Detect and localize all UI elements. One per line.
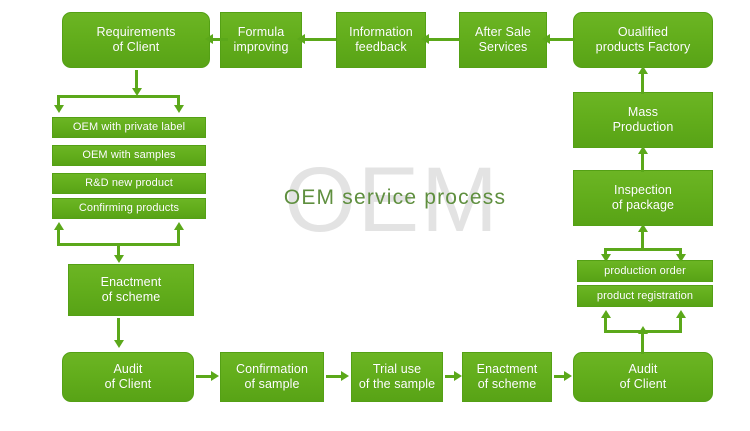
node-after-sale-services[interactable]: After SaleServices	[459, 12, 547, 68]
arrowhead-bracket-upper-left	[601, 254, 611, 262]
connector-leftbracket-lower-right-leg	[177, 230, 180, 245]
arrowhead-leftbracket-upper-left	[54, 105, 64, 113]
connector-factory-to-aftersale	[549, 38, 575, 41]
arrowhead-bracket-lower-left	[601, 310, 611, 318]
connector-leftbracket-lower-left-leg	[57, 230, 60, 245]
connector-bracket-lower-right-leg	[679, 318, 682, 332]
arrowhead-enactment-to-auditright	[564, 371, 572, 381]
connector-infofeedback-to-formula	[304, 38, 336, 41]
connector-leftbracket-upper-bar	[57, 95, 180, 98]
arrowhead-bracket-upper-to-inspection	[638, 224, 648, 232]
node-trial-use-of-the-sample[interactable]: Trial useof the sample	[351, 352, 443, 402]
connector-bracket-lower-bar	[604, 330, 682, 333]
node-inspection-of-package[interactable]: Inspectionof package	[573, 170, 713, 226]
connector-bracket-upper-bar	[604, 248, 682, 251]
node-rd-new-product[interactable]: R&D new product	[52, 173, 206, 194]
connector-formula-to-requirements	[212, 38, 228, 41]
arrowhead-leftbracket-to-enactment	[114, 255, 124, 263]
arrowhead-leftbracket-lower-right	[174, 222, 184, 230]
node-confirming-products[interactable]: Confirming products	[52, 198, 206, 219]
arrowhead-factory-to-aftersale	[542, 34, 550, 44]
node-audit-of-client-right[interactable]: Auditof Client	[573, 352, 713, 402]
connector-auditleft-to-confirmation	[196, 375, 212, 378]
connector-bracket-lower-left-leg	[604, 318, 607, 332]
node-enactment-of-scheme-left[interactable]: Enactmentof scheme	[68, 264, 194, 316]
node-oem-with-samples[interactable]: OEM with samples	[52, 145, 206, 166]
node-oem-with-private-label[interactable]: OEM with private label	[52, 117, 206, 138]
node-product-registration[interactable]: product registration	[577, 285, 713, 307]
arrowhead-enactmentleft-to-auditleft	[114, 340, 124, 348]
node-enactment-of-scheme-bottom[interactable]: Enactmentof scheme	[462, 352, 552, 402]
arrowhead-trialuse-to-enactment	[454, 371, 462, 381]
node-mass-production[interactable]: MassProduction	[573, 92, 713, 148]
arrowhead-leftbracket-lower-left	[54, 222, 64, 230]
connector-confirmation-to-trialuse	[326, 375, 342, 378]
arrowhead-inspection-to-massproduction	[638, 146, 648, 154]
node-confirmation-of-sample[interactable]: Confirmationof sample	[220, 352, 324, 402]
node-audit-of-client-left[interactable]: Auditof Client	[62, 352, 194, 402]
node-production-order[interactable]: production order	[577, 260, 713, 282]
arrowhead-formula-to-requirements	[205, 34, 213, 44]
arrowhead-bracket-upper-right	[676, 254, 686, 262]
arrowhead-bracket-lower-right	[676, 310, 686, 318]
node-information-feedback[interactable]: Informationfeedback	[336, 12, 426, 68]
arrowhead-confirmation-to-trialuse	[341, 371, 349, 381]
connector-enactmentleft-to-auditleft	[117, 318, 120, 342]
oem-process-diagram: OEM OEM service process Requirementsof C…	[0, 0, 750, 431]
arrowhead-aftersale-to-infofeedback	[421, 34, 429, 44]
diagram-title: OEM service process	[255, 186, 535, 210]
arrowhead-infofeedback-to-formula	[297, 34, 305, 44]
connector-aftersale-to-infofeedback	[428, 38, 460, 41]
arrowhead-auditleft-to-confirmation	[211, 371, 219, 381]
node-qualified-products-factory[interactable]: Oualifiedproducts Factory	[573, 12, 713, 68]
arrowhead-massproduction-to-factory	[638, 66, 648, 74]
node-formula-improving[interactable]: Formulaimproving	[220, 12, 302, 68]
node-requirements-of-client[interactable]: Requirementsof Client	[62, 12, 210, 68]
arrowhead-leftbracket-upper-right	[174, 105, 184, 113]
